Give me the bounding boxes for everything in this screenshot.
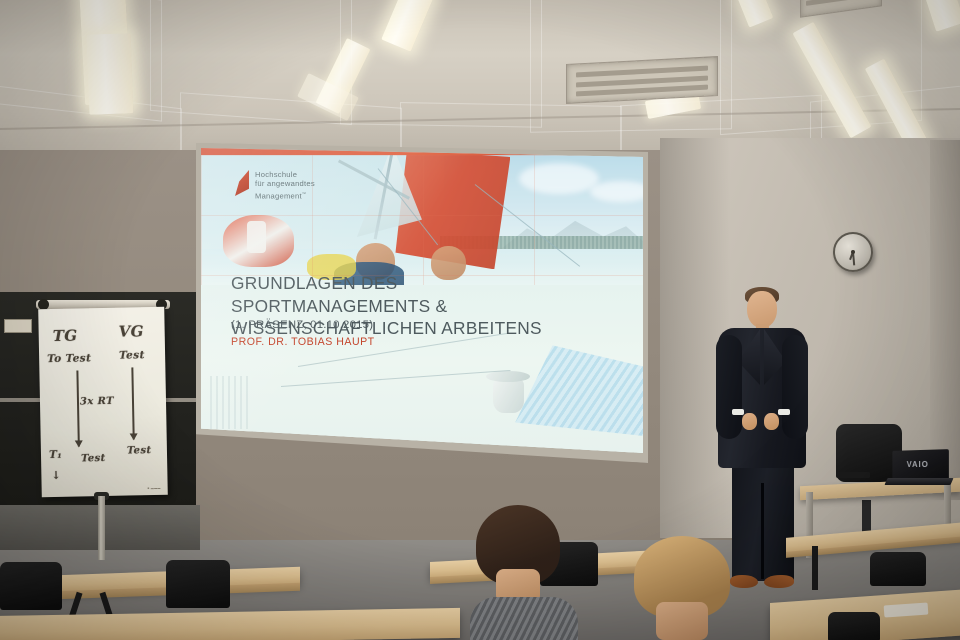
fluorescent-light-strip (925, 0, 960, 32)
pinboard-note (4, 319, 32, 333)
logo-text: Hochschule für angewandtes Management™ (255, 170, 315, 200)
ceiling-air-vent (566, 56, 718, 104)
flipchart-arrow (76, 370, 79, 446)
presenter-arm-right (782, 335, 808, 439)
ceiling-tile (400, 102, 622, 155)
logo-line-2: für angewandtes (255, 179, 315, 188)
flipchart-mark: Test (127, 445, 152, 456)
desk-remote[interactable] (836, 472, 870, 478)
presenter-cuff-left (732, 409, 744, 415)
slide-logo: Hochschule für angewandtes Management™ (235, 170, 315, 200)
logo-line-3: Management (255, 191, 302, 200)
flipchart: TG VG To Test Test 3x RT T₁ Test Test ↓ … (36, 300, 170, 560)
flipchart-mark: T₁ (49, 449, 62, 461)
classroom-chair (166, 560, 230, 608)
classroom-scene: TG VG To Test Test 3x RT T₁ Test Test ↓ … (0, 0, 960, 640)
flipchart-mark: TG (53, 326, 78, 344)
presenter-laptop[interactable]: VAIO (890, 450, 952, 486)
student-front-dark-hair (470, 505, 578, 640)
logo-trademark: ™ (302, 191, 306, 196)
projection-screen[interactable]: Hochschule für angewandtes Management™ G… (201, 148, 643, 453)
flipchart-paper: TG VG To Test Test 3x RT T₁ Test Test ↓ … (38, 307, 168, 497)
classroom-chair (828, 612, 880, 640)
slide-author: PROF. DR. TOBIAS HAUPT (231, 336, 375, 348)
presenter-hand-left (742, 413, 757, 430)
logo-line-1: Hochschule (255, 170, 315, 179)
student-shirt (470, 597, 578, 640)
flipchart-mark: VG (118, 322, 144, 340)
deck-rope (281, 370, 510, 387)
flipchart-stand (98, 496, 105, 560)
laptop-brand-label: VAIO (907, 460, 929, 469)
presenter-leg-split (761, 483, 764, 579)
student-front-blond (630, 536, 738, 640)
flipchart-mark: Test (81, 453, 106, 464)
slide-title-line-1: GRUNDLAGEN DES SPORTMANAGEMENTS & (231, 272, 601, 317)
flipchart-mark: 3x RT (80, 396, 114, 408)
presenter-hand-right (764, 413, 779, 430)
presenter-head (747, 291, 777, 328)
clock-center-pin (851, 250, 855, 254)
classroom-chair (0, 562, 62, 610)
desk-leg (812, 546, 818, 590)
flipchart-mark: Test (119, 349, 145, 361)
deck-rail (210, 376, 250, 430)
presenter-cuff-right (778, 409, 790, 415)
wall-corner (930, 140, 960, 500)
flipchart-mark: ↓ (51, 469, 61, 482)
flipchart-arrow (131, 367, 134, 439)
deck-water (515, 342, 643, 436)
flipchart-brand: ■ ▬▬▬ (147, 486, 160, 490)
flipchart-mark: To Test (47, 352, 91, 365)
slide-subtitle: (1. PRÄSENZ, 01.10.2015) (231, 319, 373, 331)
presenter-arm-left (716, 335, 742, 439)
red-sail-logo-icon (235, 170, 249, 196)
ceiling (0, 0, 960, 155)
presenter-shoe-right (764, 575, 794, 588)
classroom-chair (870, 552, 926, 586)
student-neck (656, 602, 708, 640)
laptop-lid: VAIO (892, 449, 948, 481)
fluorescent-light-strip (87, 33, 134, 114)
laptop-base (884, 478, 953, 485)
deck-winch (493, 379, 524, 413)
wall-clock (833, 232, 873, 272)
presentation-slide: Hochschule für angewandtes Management™ G… (201, 148, 643, 453)
